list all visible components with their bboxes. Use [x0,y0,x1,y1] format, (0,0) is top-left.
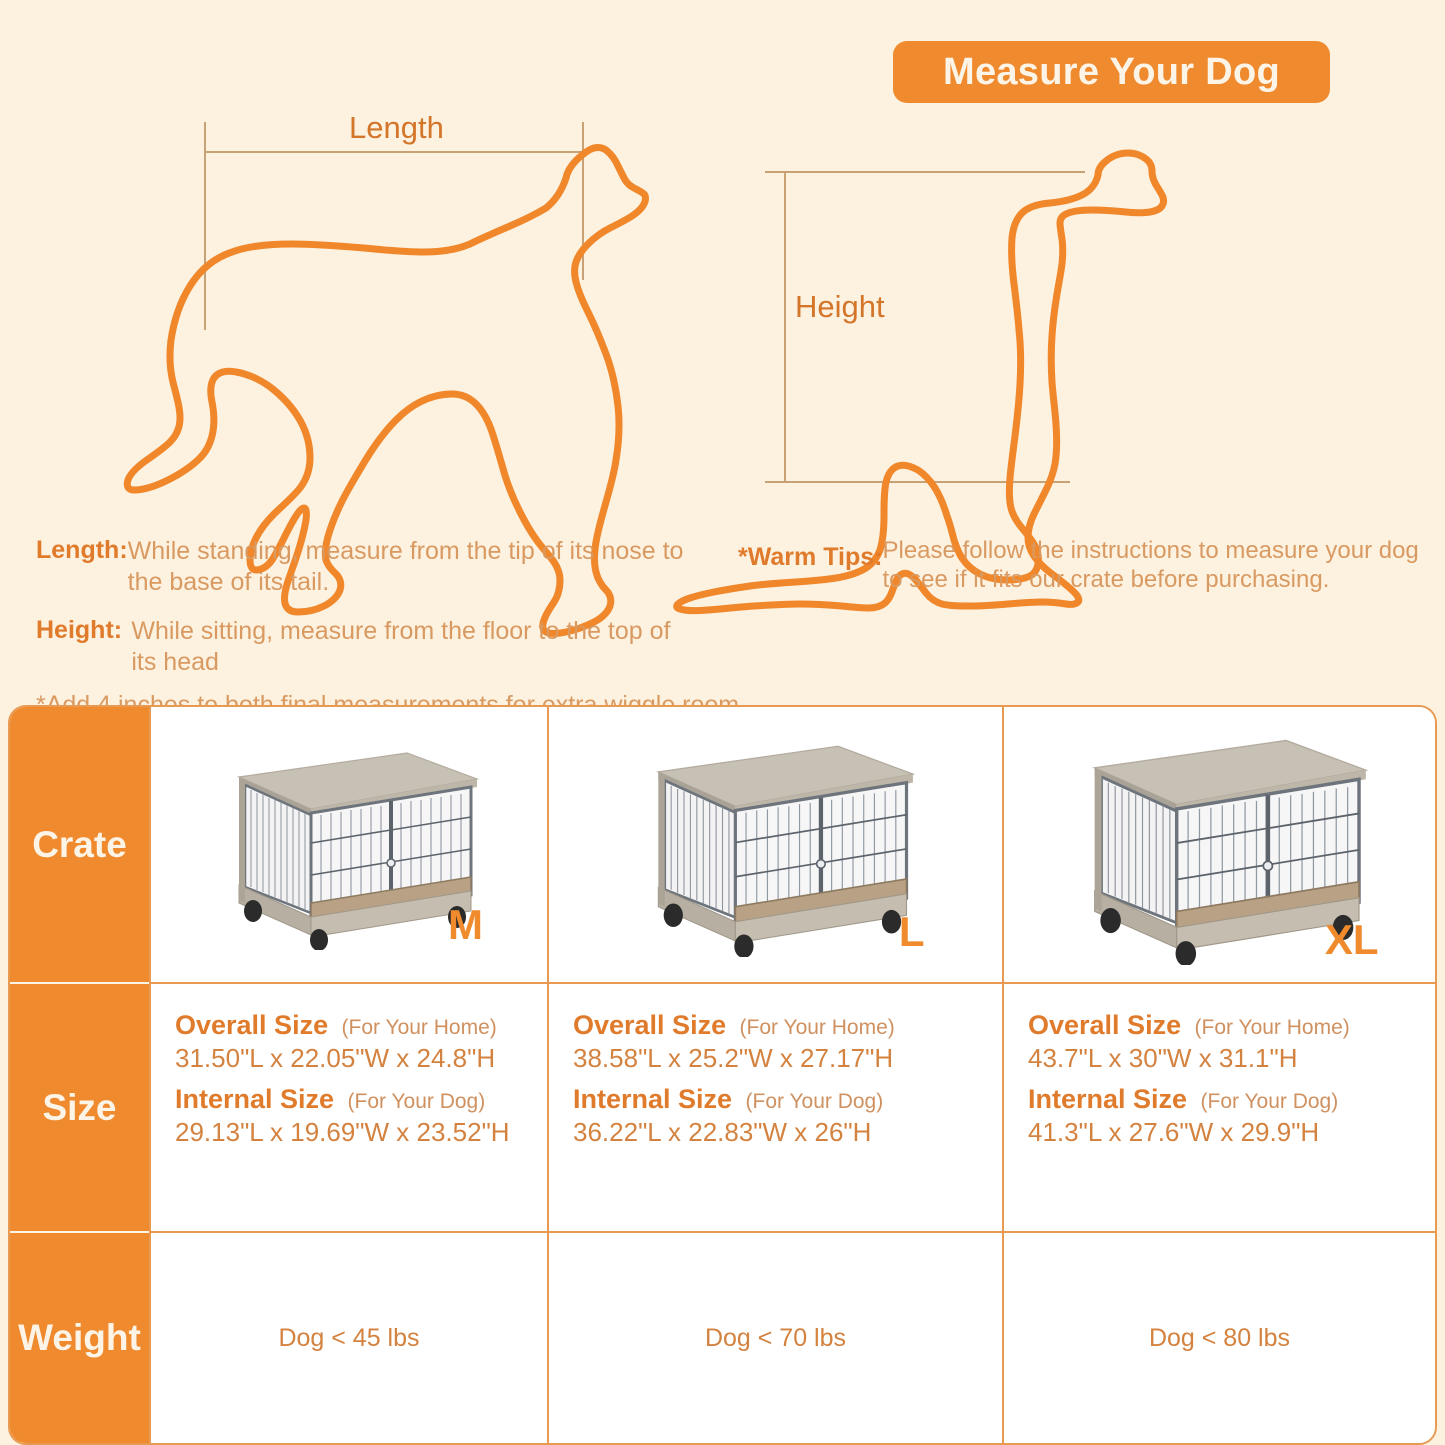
row-label-crate: Crate [10,707,149,984]
height-dimension-lines [765,172,1085,482]
overall-size-sublabel: (For Your Home) [740,1016,895,1040]
overall-size-value-xl: 43.7"L x 30"W x 31.1"H [1028,1043,1435,1074]
overall-size-value-m: 31.50"L x 22.05"W x 24.8"H [175,1043,547,1074]
weight-cell-l: Dog < 70 lbs [547,1233,1002,1443]
internal-size-value-m: 29.13"L x 19.69"W x 23.52"H [175,1117,547,1148]
weight-value-l: Dog < 70 lbs [705,1324,846,1353]
overall-size-heading-m: Overall Size (For Your Home) [175,1010,547,1041]
legend-text-length: While standing, measure from the tip of … [128,536,696,597]
internal-size-heading-xl: Internal Size (For Your Dog) [1028,1084,1435,1115]
crate-image-xl: XL [1045,720,1395,970]
weight-cell-m: Dog < 45 lbs [149,1233,547,1443]
internal-size-sublabel: (For Your Dog) [1201,1090,1339,1114]
internal-size-heading-l: Internal Size (For Your Dog) [573,1084,1002,1115]
legend-row-warm-tips: *Warm Tips: Please follow the instructio… [738,536,1438,595]
size-cell-m: Overall Size (For Your Home) 31.50"L x 2… [149,984,547,1233]
overall-size-value-l: 38.58"L x 25.2"W x 27.17"H [573,1043,1002,1074]
crate-cell-xl: XL [1002,707,1435,984]
size-tag-l: L [899,908,925,956]
crate-image-m: M [199,735,499,955]
legend-key-height: Height: [36,616,131,677]
weight-value-xl: Dog < 80 lbs [1149,1324,1290,1353]
row-label-weight: Weight [10,1233,149,1443]
weight-value-m: Dog < 45 lbs [278,1324,419,1353]
overall-size-heading-l: Overall Size (For Your Home) [573,1010,1002,1041]
legend-text-warm-tips: Please follow the instructions to measur… [882,536,1438,595]
internal-size-label: Internal Size [573,1084,732,1115]
crate-cell-l: L [547,707,1002,984]
internal-size-label: Internal Size [175,1084,334,1115]
legend-key-warm-tips: *Warm Tips: [738,536,882,595]
internal-size-sublabel: (For Your Dog) [348,1090,486,1114]
internal-size-heading-m: Internal Size (For Your Dog) [175,1084,547,1115]
overall-size-label: Overall Size [1028,1010,1181,1041]
legend-row-height: Height: While sitting, measure from the … [36,616,696,677]
internal-size-label: Internal Size [1028,1084,1187,1115]
weight-cell-xl: Dog < 80 lbs [1002,1233,1435,1443]
size-cell-l: Overall Size (For Your Home) 38.58"L x 2… [547,984,1002,1233]
internal-size-sublabel: (For Your Dog) [746,1090,884,1114]
size-tag-m: M [448,901,483,949]
overall-size-sublabel: (For Your Home) [342,1016,497,1040]
crate-cell-m: M [149,707,547,984]
crate-illustration [611,727,941,957]
size-tag-xl: XL [1325,916,1379,964]
legend-text-height: While sitting, measure from the floor to… [131,616,696,677]
crate-image-l: L [611,727,941,962]
height-dimension-label: Height [795,289,885,325]
specification-table: Crate [8,705,1437,1445]
overall-size-label: Overall Size [573,1010,726,1041]
internal-size-value-l: 36.22"L x 22.83"W x 26"H [573,1117,1002,1148]
internal-size-value-xl: 41.3"L x 27.6"W x 29.9"H [1028,1117,1435,1148]
size-cell-xl: Overall Size (For Your Home) 43.7"L x 30… [1002,984,1435,1233]
overall-size-label: Overall Size [175,1010,328,1041]
length-dimension-lines [205,122,583,330]
overall-size-sublabel: (For Your Home) [1195,1016,1350,1040]
overall-size-heading-xl: Overall Size (For Your Home) [1028,1010,1435,1041]
legend-key-length: Length: [36,536,128,597]
length-dimension-label: Length [349,110,444,146]
row-label-size: Size [10,984,149,1233]
legend-row-length: Length: While standing, measure from the… [36,536,696,597]
